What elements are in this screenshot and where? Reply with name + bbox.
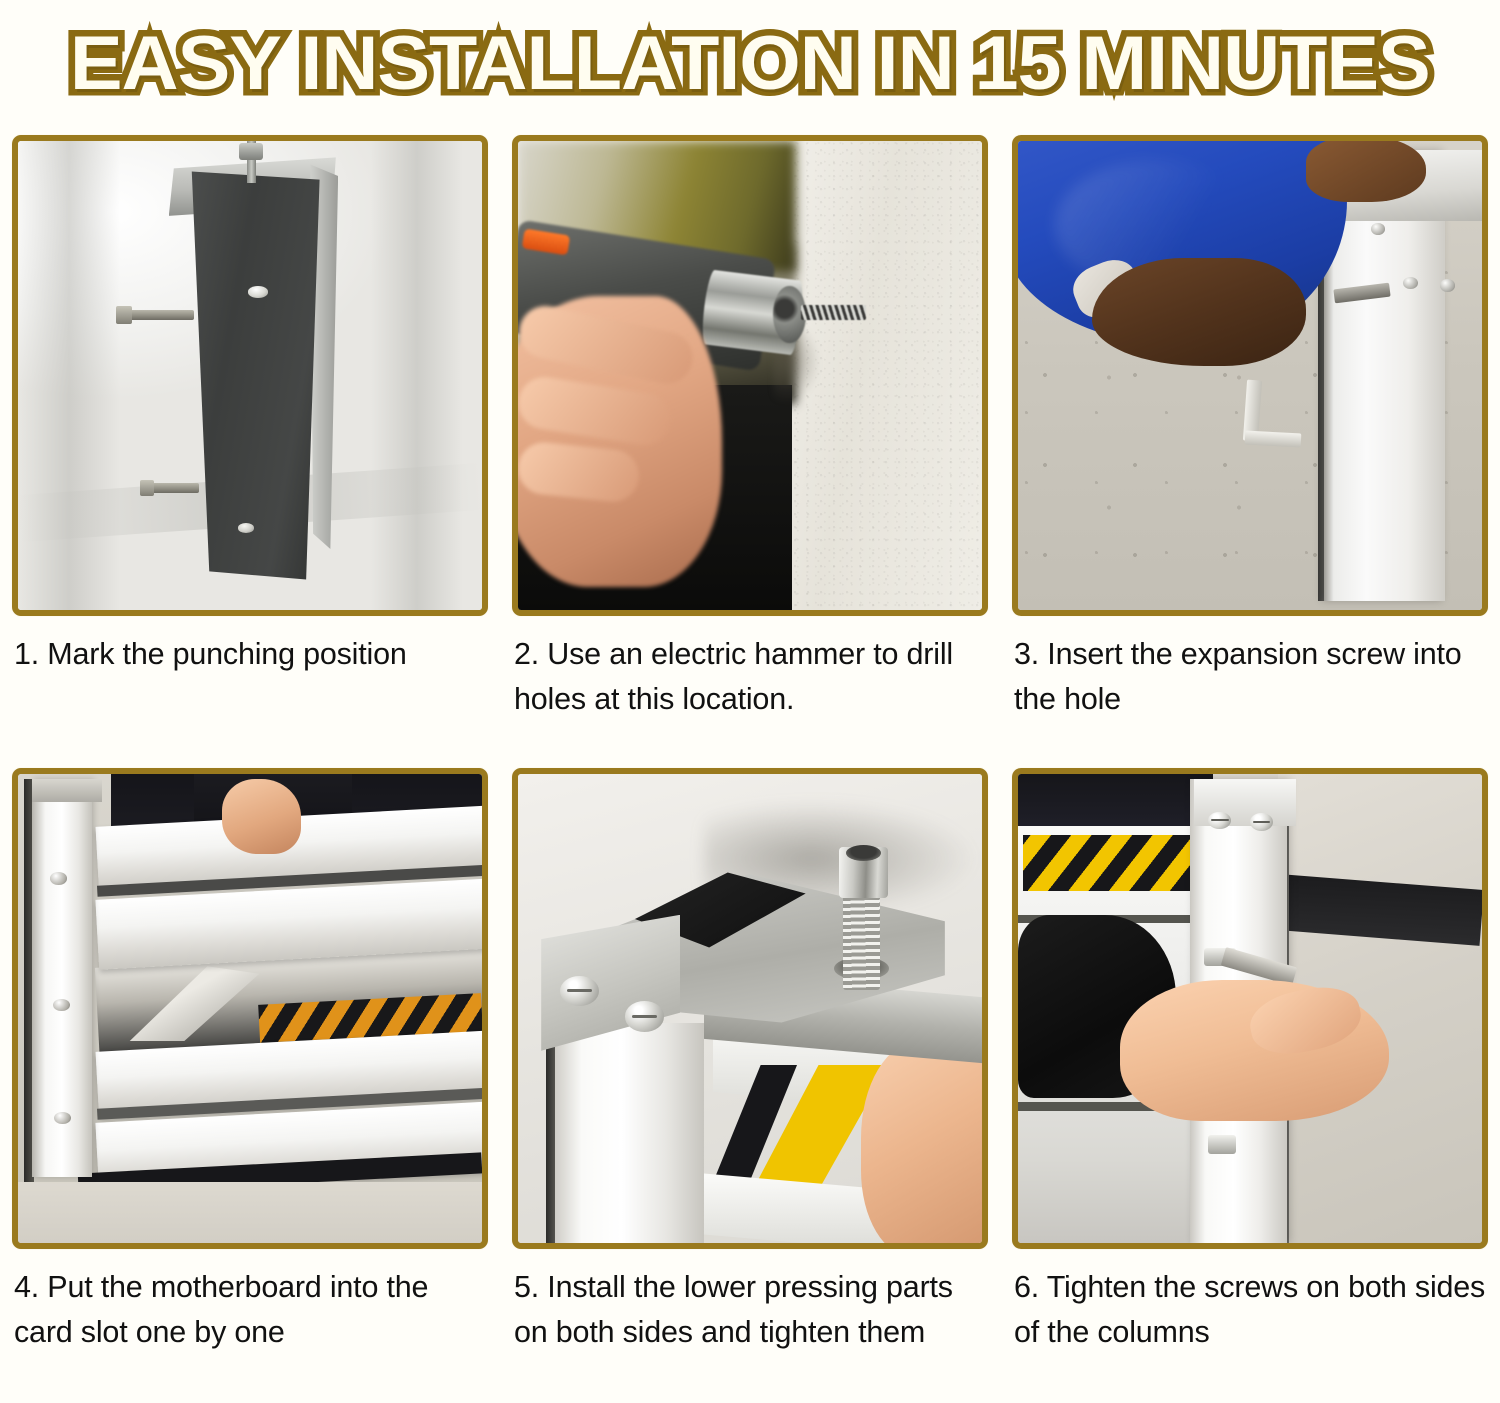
post-screw — [50, 872, 67, 884]
step-card-6: 6. Tighten the screws on both sides of t… — [1000, 768, 1500, 1403]
step-card-2: 2. Use an electric hammer to drill holes… — [500, 135, 1000, 755]
column-screw — [1440, 279, 1455, 291]
steps-row-bottom: 4. Put the motherboard into the card slo… — [0, 768, 1500, 1403]
allen-key-short-arm — [1245, 430, 1301, 447]
header-banner: EASY INSTALLATION IN 15 MINUTES — [0, 0, 1500, 128]
top-bolt-head — [239, 143, 263, 160]
phillips-screw — [1250, 813, 1273, 831]
drill-bit — [801, 305, 866, 320]
step-photo-1 — [12, 135, 488, 616]
marking-hole-upper — [248, 286, 268, 297]
phillips-screw — [625, 1001, 664, 1031]
step-caption-2: 2. Use an electric hammer to drill holes… — [512, 632, 988, 722]
post-screw — [54, 1112, 71, 1124]
step-caption-3: 3. Insert the expansion screw into the h… — [1012, 632, 1488, 722]
column-post — [555, 1023, 703, 1243]
step-caption-5: 5. Install the lower pressing parts on b… — [512, 1265, 988, 1355]
hazard-stripe — [1023, 835, 1190, 891]
step-card-3: 3. Insert the expansion screw into the h… — [1000, 135, 1500, 755]
cloth-fold — [371, 141, 464, 610]
worker-hand — [861, 1041, 988, 1249]
phillips-screw — [560, 976, 599, 1006]
worker-hand — [222, 779, 301, 854]
step-card-5: 5. Install the lower pressing parts on b… — [500, 768, 1000, 1403]
step-caption-4: 4. Put the motherboard into the card slo… — [12, 1265, 488, 1355]
step-card-4: 4. Put the motherboard into the card slo… — [0, 768, 500, 1403]
page-title: EASY INSTALLATION IN 15 MINUTES — [70, 24, 1430, 104]
steps-row-top: 1. Mark the punching position 2. Use a — [0, 135, 1500, 755]
step-photo-6 — [1012, 768, 1488, 1249]
expansion-pin-upper-tip — [116, 306, 132, 324]
worker-arm — [1092, 258, 1305, 366]
marking-hole-lower — [238, 523, 254, 532]
thumb-bolt-socket — [846, 845, 881, 861]
worker-upper-hand — [1306, 136, 1427, 202]
floor — [18, 1182, 482, 1243]
post-top-cap — [32, 779, 102, 802]
column-screw-lower — [1208, 1135, 1236, 1154]
step-card-1: 1. Mark the punching position — [0, 135, 500, 755]
thumb-bolt-thread — [843, 887, 880, 990]
step-caption-1: 1. Mark the punching position — [12, 632, 488, 677]
step-photo-3 — [1012, 135, 1488, 616]
step-photo-4 — [12, 768, 488, 1249]
step-caption-6: 6. Tighten the screws on both sides of t… — [1012, 1265, 1488, 1355]
steps-grid: 1. Mark the punching position 2. Use a — [0, 128, 1500, 1403]
expansion-pin-lower-tip — [140, 480, 155, 496]
step-photo-5 — [512, 768, 988, 1249]
step-photo-2 — [512, 135, 988, 616]
